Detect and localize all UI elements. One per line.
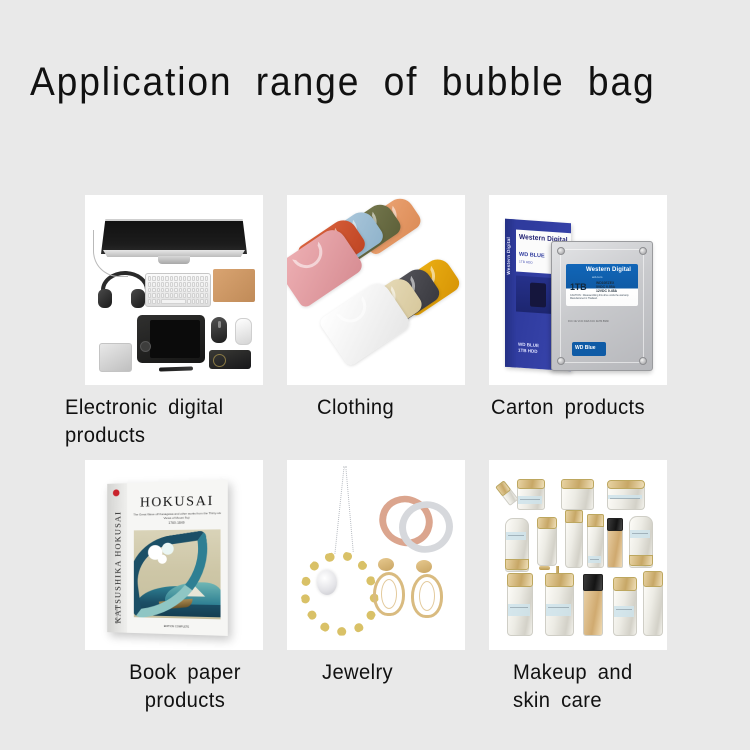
necklace-chain-right xyxy=(345,466,353,552)
book-cover-date: 1760-1849 xyxy=(127,520,228,525)
black-mouse-icon xyxy=(211,317,227,343)
wd-drive-capacity: 1TB xyxy=(570,282,586,292)
wd-box-side-text: Western Digital xyxy=(506,237,511,275)
category-card-clothing[interactable]: Clothing xyxy=(287,195,465,450)
jewelry-image xyxy=(287,460,465,650)
book-image: KATSUSHIKA HOKUSAI PUBLISHERS HOKUSAI Th… xyxy=(85,460,263,650)
cosmetic-foundation-1 xyxy=(607,526,621,566)
product-category-grid: Electronic digital products Clothing xyxy=(85,195,665,715)
wd-drive-brand: Western Digital xyxy=(586,267,631,273)
clothing-image xyxy=(287,195,465,385)
cosmetic-pump-bottle-1 xyxy=(545,582,572,634)
drawing-tablet-icon xyxy=(137,315,205,363)
category-caption: Clothing xyxy=(317,385,459,422)
category-card-makeup-and-skin-care[interactable]: Makeup and skin care xyxy=(489,460,667,715)
wd-blue-logo: WD Blue xyxy=(572,342,606,356)
external-drive-icon xyxy=(99,343,132,372)
page-title: Application range of bubble bag xyxy=(30,58,681,106)
hokusai-book: KATSUSHIKA HOKUSAI PUBLISHERS HOKUSAI Th… xyxy=(107,480,228,636)
cosmetic-jar-2 xyxy=(561,484,592,508)
book-spine-footer: PUBLISHERS xyxy=(115,605,119,624)
white-mouse-icon xyxy=(235,318,252,345)
stylus-icon xyxy=(159,366,193,371)
cosmetic-foundation-2 xyxy=(583,586,601,634)
carton-products-image: Western Digital WD BLUE 1TB HDD Western … xyxy=(489,195,667,385)
great-wave-artwork xyxy=(134,529,221,619)
earring-left xyxy=(373,558,399,610)
wd-drive-certifications: FCC CE VCCI ICES KCC RoHS BSMI xyxy=(568,320,632,323)
cosmetic-bottle-3 xyxy=(613,586,635,634)
cosmetic-lipstick-1 xyxy=(495,482,516,505)
category-row-1: Electronic digital products Clothing xyxy=(85,195,665,450)
category-card-carton-products[interactable]: Western Digital WD BLUE 1TB HDD Western … xyxy=(489,195,667,450)
cosmetics-image xyxy=(489,460,667,650)
wd-box-capacity: 1TB HDD xyxy=(519,260,533,265)
category-caption: Makeup and skin care xyxy=(513,650,724,715)
electronics-image xyxy=(85,195,263,385)
cosmetic-pump-bottle-2 xyxy=(643,582,661,634)
cosmetic-dropper-1 xyxy=(537,524,555,564)
pendant-gemstone xyxy=(317,570,337,595)
mousepad-icon xyxy=(213,269,255,302)
earring-right xyxy=(411,560,437,612)
wd-drive-fineprint: CAUTION : Disassembling this drive voids… xyxy=(570,294,634,300)
accessory-case-icon xyxy=(209,350,251,369)
wd-box-footer: WD BLUE 1TB HDD xyxy=(518,342,539,355)
book-cover-footer: EDITION COMPLETE xyxy=(127,624,228,630)
category-caption: Electronic digital products xyxy=(65,385,305,450)
wd-blue-logo-text: WD Blue xyxy=(575,345,596,351)
necklace-chain-left xyxy=(334,466,344,554)
headphone-cable xyxy=(93,230,128,277)
category-card-electronic-digital-products[interactable]: Electronic digital products xyxy=(85,195,263,450)
category-caption: Carton products xyxy=(491,385,721,422)
cosmetic-spray-1 xyxy=(565,518,581,566)
category-row-2: KATSUSHIKA HOKUSAI PUBLISHERS HOKUSAI Th… xyxy=(85,460,665,715)
cosmetic-jar-1 xyxy=(517,484,543,508)
wd-hard-drive: Western Digital wd.com 1TB WD10EZEX 5VDC… xyxy=(551,241,653,371)
wd-drive-model: WD10EZEX 5VDC 0.55A 12VDC 0.45A xyxy=(596,281,617,294)
cosmetic-bottle-2 xyxy=(507,582,531,634)
wd-drive-sub: wd.com xyxy=(592,275,602,279)
category-caption: Book paper products xyxy=(89,650,281,715)
necklace-pendant xyxy=(293,545,385,643)
cosmetic-tube-2 xyxy=(629,516,651,566)
book-cover-subtitle: The Great Wave off Kanagawa and other wo… xyxy=(133,511,222,521)
category-card-book-paper-products[interactable]: KATSUSHIKA HOKUSAI PUBLISHERS HOKUSAI Th… xyxy=(85,460,263,715)
category-card-jewelry[interactable]: Jewelry xyxy=(287,460,465,715)
book-cover-title: HOKUSAI xyxy=(127,493,228,511)
cosmetic-bottle-1 xyxy=(587,522,602,566)
keyboard-icon xyxy=(145,273,211,307)
cosmetic-tube-1 xyxy=(505,518,527,570)
cosmetic-jar-3 xyxy=(607,484,643,508)
category-caption: Jewelry xyxy=(322,650,459,687)
headphones-icon xyxy=(99,271,143,311)
wd-box-model: WD BLUE xyxy=(519,252,545,260)
